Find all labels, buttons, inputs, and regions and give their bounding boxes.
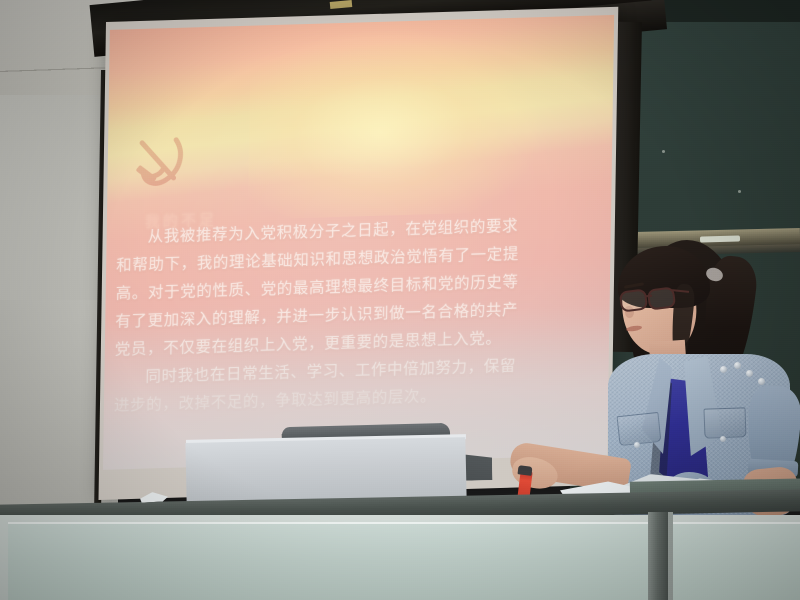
desk-leg-highlight bbox=[668, 512, 673, 600]
cpc-hammer-sickle-emblem bbox=[129, 129, 194, 195]
jacket-pocket-right bbox=[703, 407, 746, 438]
eyeglasses-lens-left bbox=[619, 288, 648, 312]
jacket-pocket-left bbox=[617, 412, 662, 446]
shoulder-stud bbox=[734, 362, 741, 369]
shoulder-stud bbox=[720, 366, 727, 373]
chalk-mark bbox=[662, 150, 665, 153]
presentation-slide: 我的不足 从我被推荐为入党积极分子之日起，在党组织的要求 和帮助下，我的理论基础… bbox=[103, 15, 614, 470]
red-marker-cap bbox=[518, 465, 533, 476]
slide-body-text: 从我被推荐为入党积极分子之日起，在党组织的要求 和帮助下，我的理论基础知识和思想… bbox=[114, 211, 603, 421]
chalk-mark bbox=[738, 190, 741, 193]
classroom-photo: 我的不足 从我被推荐为入党积极分子之日起，在党组织的要求 和帮助下，我的理论基础… bbox=[0, 0, 800, 600]
presenter-woman bbox=[598, 236, 800, 516]
lectern-face bbox=[185, 437, 466, 503]
shoulder-stud bbox=[758, 378, 765, 385]
shoulder-studs bbox=[716, 362, 776, 388]
desk-panel bbox=[8, 522, 648, 600]
shoulder-stud bbox=[746, 370, 753, 377]
jacket-button bbox=[634, 442, 640, 448]
desk-panel bbox=[672, 522, 800, 600]
jacket-button bbox=[720, 436, 726, 442]
projector-hotspot bbox=[248, 26, 543, 219]
